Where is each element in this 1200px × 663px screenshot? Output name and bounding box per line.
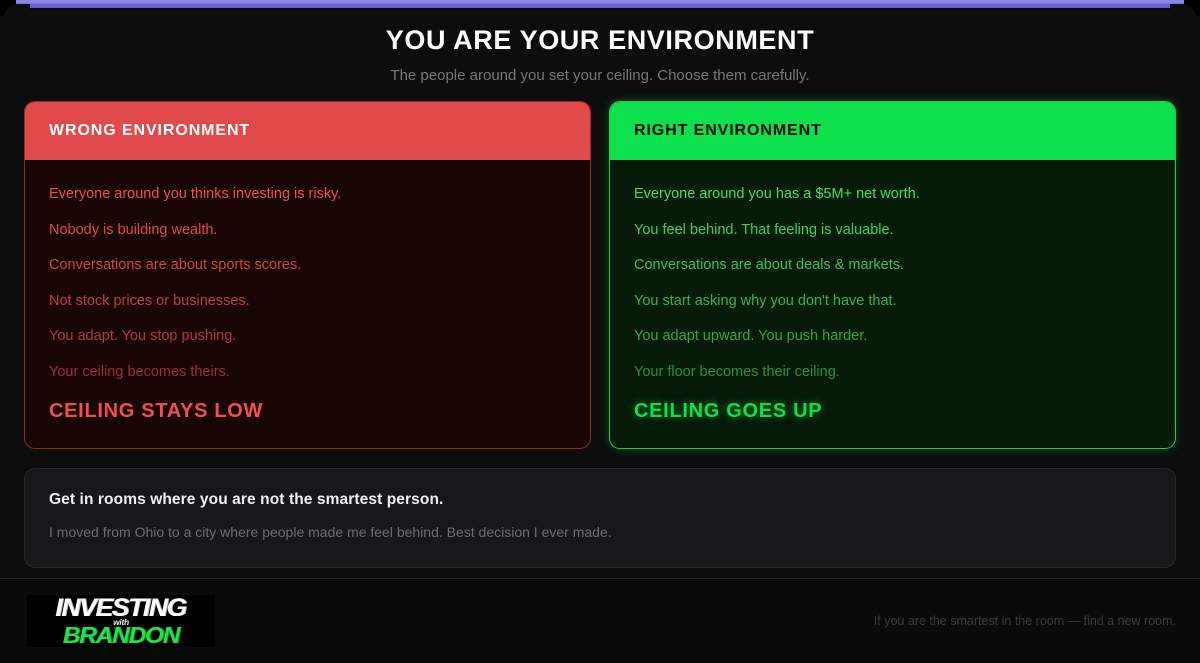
slide-canvas: YOU ARE YOUR ENVIRONMENT The people arou… [0, 0, 1200, 663]
brand-logo-line-1: INVESTING [56, 596, 186, 621]
page-header: YOU ARE YOUR ENVIRONMENT The people arou… [0, 26, 1200, 84]
accent-bar-shadow [0, 8, 1200, 11]
list-item: Your floor becomes their ceiling. [634, 365, 1151, 380]
page-subtitle: The people around you set your ceiling. … [0, 67, 1200, 84]
card-wrong-heading: WRONG ENVIRONMENT [49, 122, 250, 140]
list-item: Not stock prices or businesses. [49, 294, 566, 309]
card-right-environment: RIGHT ENVIRONMENT Everyone around you ha… [609, 101, 1176, 449]
list-item: Conversations are about sports scores. [49, 258, 566, 273]
card-right-heading: RIGHT ENVIRONMENT [634, 122, 822, 140]
card-right-header: RIGHT ENVIRONMENT [610, 102, 1175, 160]
callout-title: Get in rooms where you are not the smart… [49, 491, 1151, 509]
card-wrong-header: WRONG ENVIRONMENT [25, 102, 590, 160]
list-item: You start asking why you don't have that… [634, 294, 1151, 309]
list-item: You adapt upward. You push harder. [634, 329, 1151, 344]
page-title: YOU ARE YOUR ENVIRONMENT [0, 26, 1200, 56]
accent-top-bar [7, 0, 1193, 8]
list-item: Your ceiling becomes theirs. [49, 365, 566, 380]
card-wrong-verdict: CEILING STAYS LOW [49, 400, 566, 423]
callout-subtitle: I moved from Ohio to a city where people… [49, 524, 1151, 540]
card-right-body: Everyone around you has a $5M+ net worth… [610, 160, 1175, 448]
card-wrong-body: Everyone around you thinks investing is … [25, 160, 590, 448]
brand-logo-line-3: BRANDON [63, 624, 179, 647]
card-right-verdict: CEILING GOES UP [634, 400, 1151, 423]
list-item: You feel behind. That feeling is valuabl… [634, 223, 1151, 238]
callout-box: Get in rooms where you are not the smart… [24, 468, 1176, 568]
comparison-cards: WRONG ENVIRONMENT Everyone around you th… [24, 101, 1176, 449]
list-item: You adapt. You stop pushing. [49, 329, 566, 344]
footer-note: If you are the smartest in the room — fi… [874, 614, 1176, 628]
list-item: Nobody is building wealth. [49, 223, 566, 238]
card-wrong-environment: WRONG ENVIRONMENT Everyone around you th… [24, 101, 591, 449]
list-item: Everyone around you thinks investing is … [49, 187, 566, 202]
footer-bar: INVESTING with BRANDON If you are the sm… [0, 579, 1200, 663]
list-item: Conversations are about deals & markets. [634, 258, 1151, 273]
brand-logo: INVESTING with BRANDON [27, 595, 215, 647]
list-item: Everyone around you has a $5M+ net worth… [634, 187, 1151, 202]
